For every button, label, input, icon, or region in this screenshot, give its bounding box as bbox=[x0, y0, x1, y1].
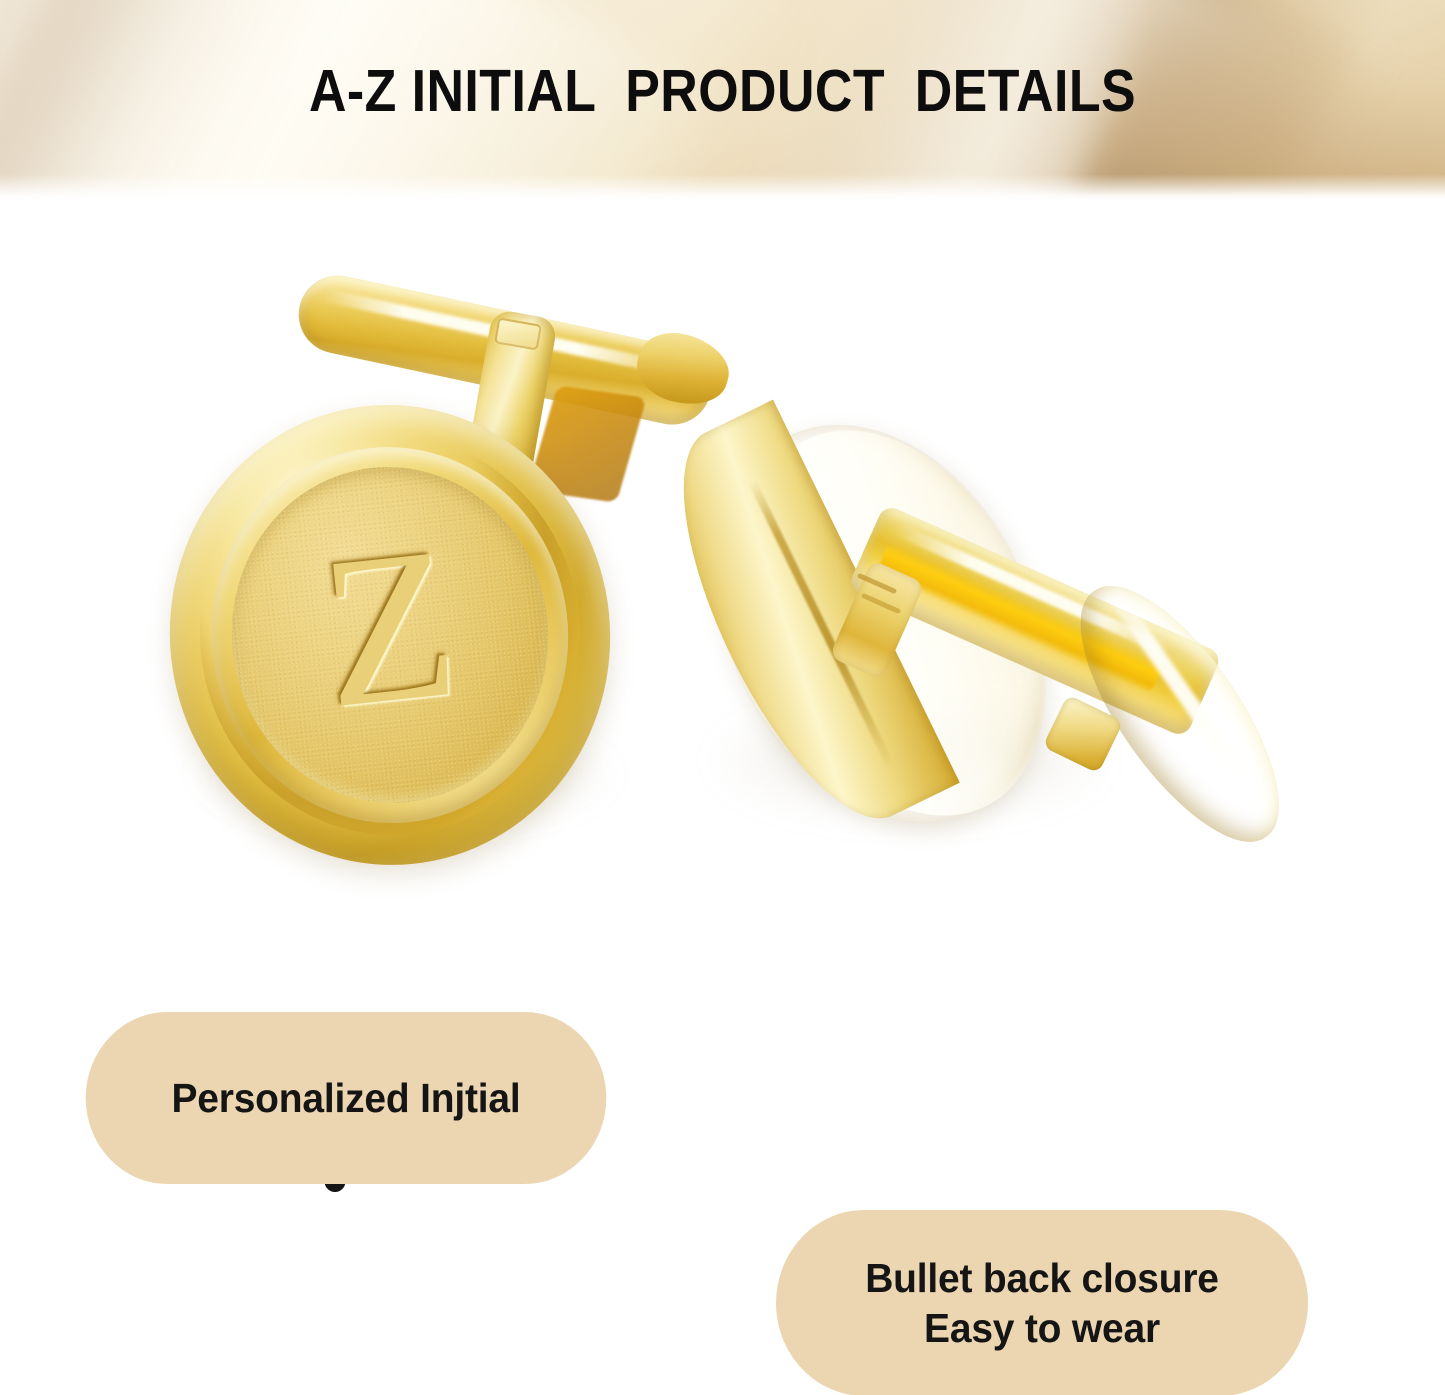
callout-bullet-back-closure: Bullet back closure Easy to wear bbox=[776, 1210, 1308, 1395]
callout-label-block: Bullet back closure Easy to wear bbox=[865, 1253, 1219, 1353]
callout-label-line-1: Bullet back closure bbox=[865, 1255, 1219, 1301]
callout-label: Personalized Injtial bbox=[171, 1075, 520, 1122]
callout-personalized-initial: Personalized Injtial bbox=[86, 1012, 607, 1184]
cufflink-back-view bbox=[700, 405, 1360, 1025]
cufflink-front-view: Z bbox=[150, 295, 750, 955]
page-title: A-Z INITIAL PRODUCT DETAILS bbox=[87, 0, 1359, 200]
product-detail-image: A-Z INITIAL PRODUCT DETAILS Z bbox=[0, 0, 1445, 1395]
header-banner: A-Z INITIAL PRODUCT DETAILS bbox=[0, 0, 1445, 200]
engraved-initial-letter: Z bbox=[215, 451, 564, 818]
callout-label-line-2: Easy to wear bbox=[924, 1305, 1160, 1351]
